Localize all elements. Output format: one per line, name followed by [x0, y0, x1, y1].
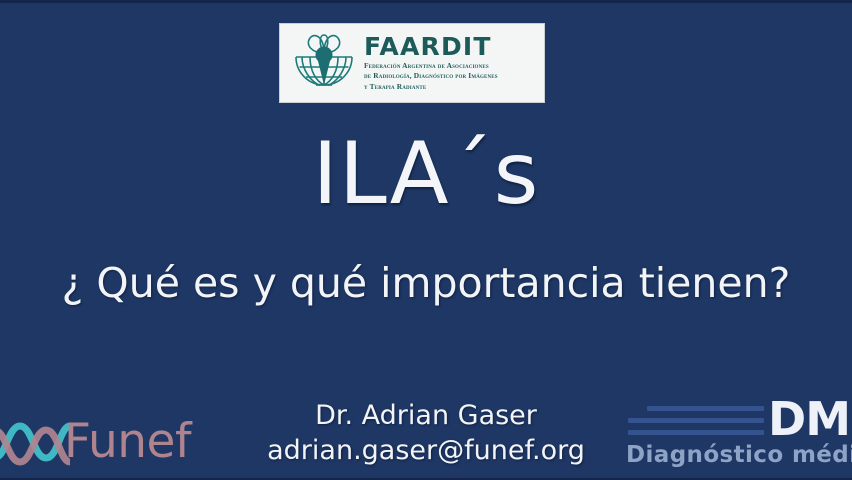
dm-logo: DM Diagnóstico médico — [620, 400, 852, 470]
faardit-wordmark: FAARDIT — [364, 34, 498, 59]
faardit-globe-emblem — [288, 27, 360, 99]
dm-bar — [647, 406, 764, 411]
dm-wordmark: DM — [768, 396, 850, 442]
faardit-subtitle-line-1: Federación Argentina de Asociaciones — [364, 61, 498, 72]
faardit-text-block: FAARDIT Federación Argentina de Asociaci… — [364, 34, 502, 93]
dm-bar — [628, 418, 764, 423]
dm-bars-decoration — [628, 406, 764, 442]
faardit-subtitle-line-3: y Terapia Radiante — [364, 82, 498, 93]
slide-subtitle: ¿ Qué es y qué importancia tienen? — [0, 261, 852, 306]
faardit-subtitle-line-2: de Radiología, Diagnóstico por Imágenes — [364, 71, 498, 82]
dna-helix-mark — [0, 412, 70, 470]
slide-title: ILA´s — [0, 131, 852, 217]
funef-wordmark: Funef — [64, 418, 191, 465]
faardit-logo-panel: FAARDIT Federación Argentina de Asociaci… — [279, 23, 545, 103]
dm-bar — [628, 430, 764, 435]
presentation-slide: FAARDIT Federación Argentina de Asociaci… — [0, 0, 852, 480]
funef-logo: Funef — [0, 410, 191, 472]
dm-caption: Diagnóstico médico — [626, 442, 852, 468]
